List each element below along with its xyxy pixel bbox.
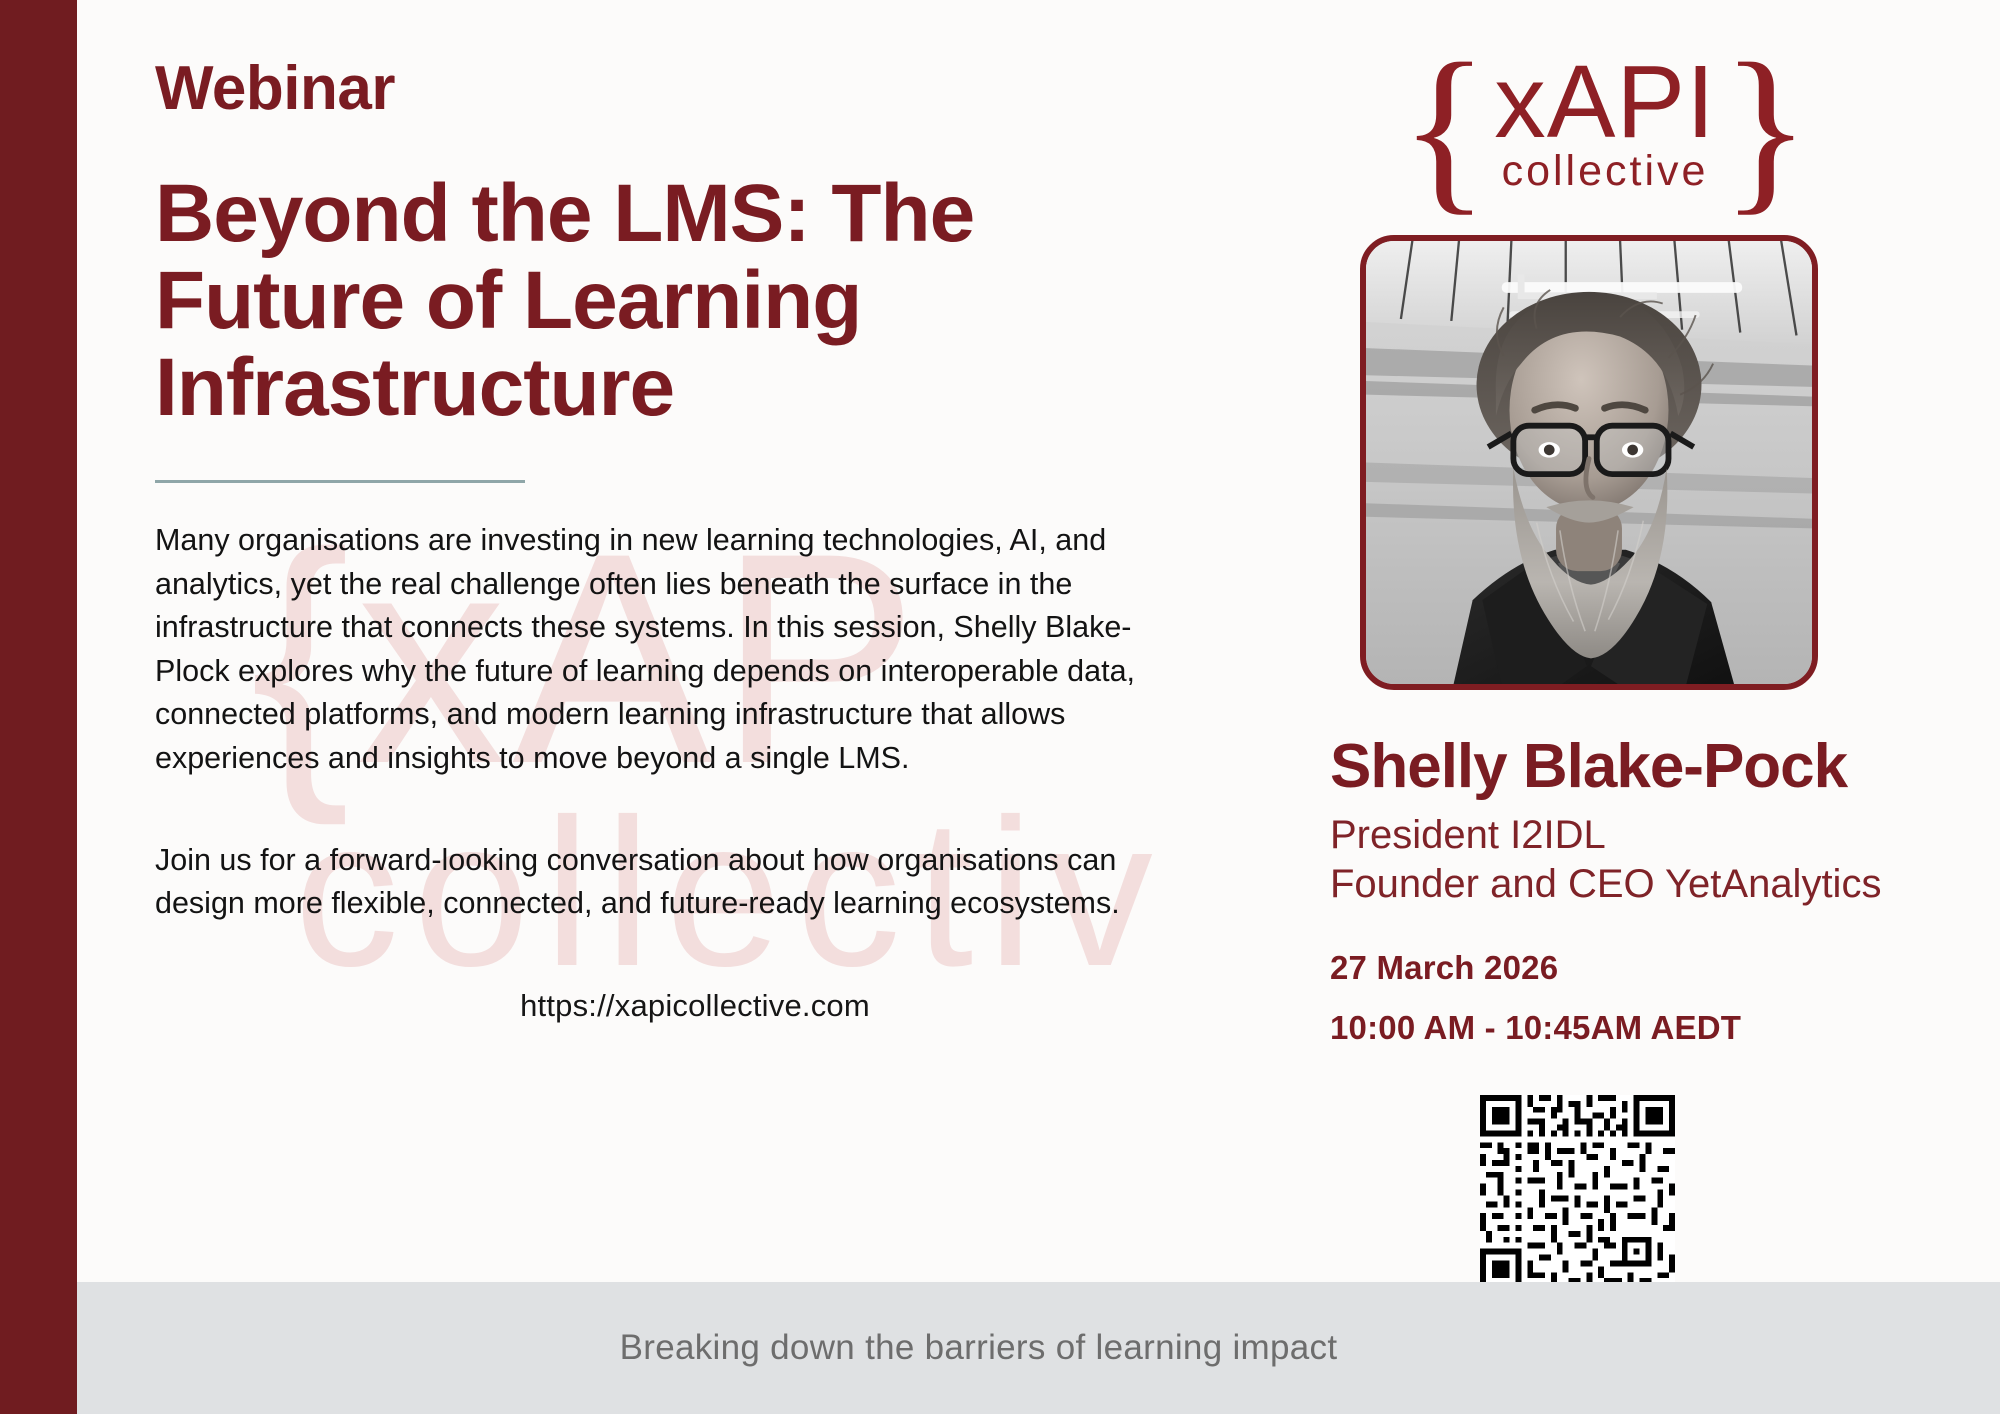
xapi-collective-logo: { xAPI collective } xyxy=(1400,40,1810,205)
description-paragraph-1: Many organisations are investing in new … xyxy=(155,519,1175,781)
page-title: Beyond the LMS: The Future of Learning I… xyxy=(155,171,1055,432)
speaker-role-secondary: Founder and CEO YetAnalytics xyxy=(1330,860,1970,909)
qr-code[interactable] xyxy=(1480,1095,1675,1290)
logo-wordmark: xAPI xyxy=(1460,50,1750,153)
logo-subtitle: collective xyxy=(1460,150,1750,193)
left-column: Webinar Beyond the LMS: The Future of Le… xyxy=(155,55,1175,1024)
left-accent-bar xyxy=(0,0,77,1414)
event-time: 10:00 AM - 10:45AM AEDT xyxy=(1330,1009,1970,1047)
eyebrow-label: Webinar xyxy=(155,55,1175,123)
description-paragraph-2: Join us for a forward-looking conversati… xyxy=(155,839,1175,926)
brace-right-icon: } xyxy=(1721,36,1810,221)
webinar-poster: {xAP collectiv Webinar Beyond the LMS: T… xyxy=(0,0,2000,1414)
qr-code-image xyxy=(1480,1095,1675,1290)
right-column: { xAPI collective } xyxy=(1330,40,1970,1290)
poster-content: Webinar Beyond the LMS: The Future of Le… xyxy=(0,0,2000,1414)
title-divider xyxy=(155,480,525,483)
website-url[interactable]: https://xapicollective.com xyxy=(155,988,1175,1024)
speaker-photo xyxy=(1360,235,1818,690)
speaker-role-primary: President I2IDL xyxy=(1330,811,1970,860)
speaker-name: Shelly Blake-Pock xyxy=(1330,734,1970,799)
footer-tagline: Breaking down the barriers of learning i… xyxy=(620,1328,1458,1368)
speaker-photo-image xyxy=(1366,241,1812,684)
footer-band: Breaking down the barriers of learning i… xyxy=(77,1282,2000,1414)
event-date: 27 March 2026 xyxy=(1330,949,1970,987)
